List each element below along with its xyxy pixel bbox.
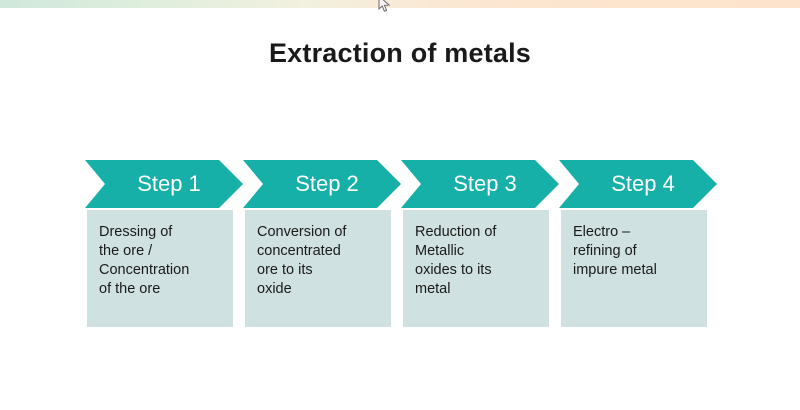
step-header-label: Step 3 [401,160,559,208]
step-body-panel: Electro – refining of impure metal [561,210,707,327]
step-body-panel: Reduction of Metallic oxides to its meta… [403,210,549,327]
flow-step: Step 1 Dressing of the ore / Concentrati… [85,160,243,327]
step-chevron-header: Step 2 [243,160,401,208]
step-body-text: Electro – refining of impure metal [573,223,697,280]
step-body-text: Dressing of the ore / Concentration of t… [99,223,223,299]
step-chevron-header: Step 1 [85,160,243,208]
step-header-label: Step 2 [243,160,401,208]
step-chevron-header: Step 3 [401,160,559,208]
flow-step: Step 4 Electro – refining of impure meta… [559,160,717,327]
page-title: Extraction of metals [0,38,800,69]
process-flow-diagram: Step 1 Dressing of the ore / Concentrati… [85,160,725,330]
step-chevron-header: Step 4 [559,160,717,208]
top-gradient-strip [0,0,800,8]
flow-step: Step 3 Reduction of Metallic oxides to i… [401,160,559,327]
step-header-label: Step 1 [85,160,243,208]
step-body-text: Conversion of concentrated ore to its ox… [257,223,381,299]
step-body-text: Reduction of Metallic oxides to its meta… [415,223,539,299]
step-body-panel: Conversion of concentrated ore to its ox… [245,210,391,327]
step-header-label: Step 4 [559,160,717,208]
step-body-panel: Dressing of the ore / Concentration of t… [87,210,233,327]
flow-step: Step 2 Conversion of concentrated ore to… [243,160,401,327]
